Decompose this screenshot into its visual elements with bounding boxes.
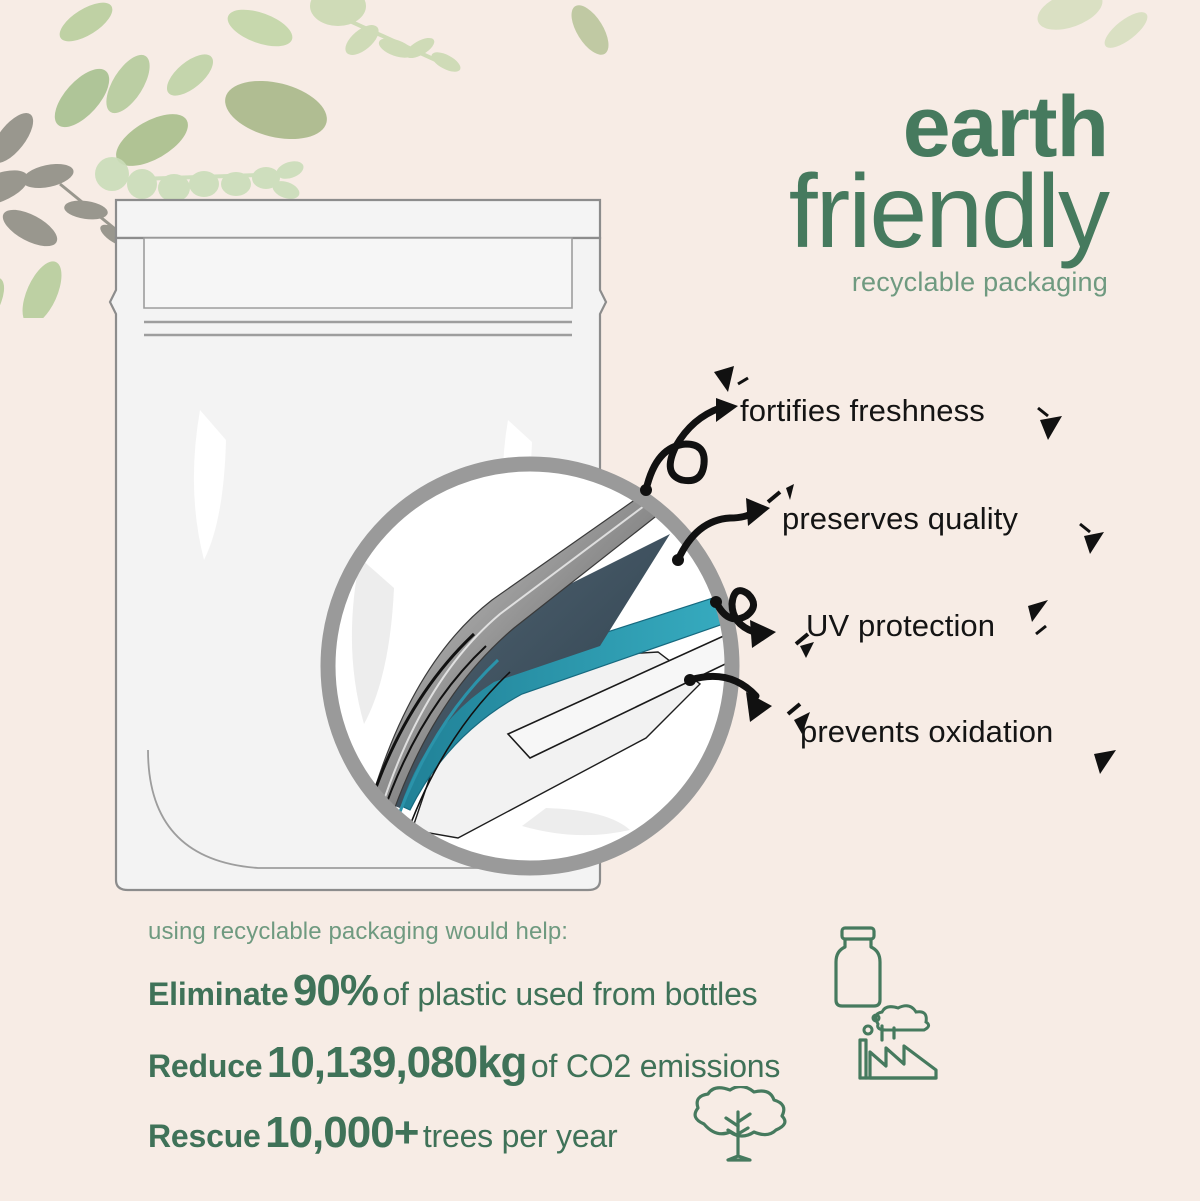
feature-label-preserves-quality: preserves quality — [782, 501, 1018, 537]
stat-rest: of plastic used from bottles — [382, 976, 757, 1012]
callout-arrows — [620, 380, 840, 740]
title-line-friendly: friendly — [789, 163, 1108, 263]
stat-rest: trees per year — [423, 1118, 618, 1154]
factory-icon — [856, 1004, 940, 1082]
stats-intro: using recyclable packaging would help: — [148, 918, 1048, 946]
page-title: earth friendly recyclable packaging — [789, 86, 1108, 296]
stat-value: 90% — [293, 966, 378, 1015]
stat-rest: of CO2 emissions — [531, 1048, 780, 1084]
title-subtitle: recyclable packaging — [789, 270, 1108, 296]
stat-verb: Reduce — [148, 1048, 262, 1084]
stat-value: 10,139,080kg — [267, 1038, 527, 1087]
infographic-canvas: fortifies freshness preserves quality UV… — [0, 0, 1200, 1201]
feature-label-uv-protection: UV protection — [806, 608, 995, 644]
foliage-decoration-top — [300, 0, 720, 122]
stat-value: 10,000+ — [265, 1108, 418, 1157]
feature-label-fortifies-freshness: fortifies freshness — [740, 393, 985, 429]
stat-verb: Rescue — [148, 1118, 261, 1154]
stat-row-rescue: Rescue 10,000+ trees per year — [148, 1108, 1048, 1158]
bottle-icon — [828, 926, 888, 1012]
tree-icon — [688, 1086, 792, 1164]
stat-verb: Eliminate — [148, 976, 288, 1012]
feature-label-prevents-oxidation: prevents oxidation — [800, 714, 1053, 750]
